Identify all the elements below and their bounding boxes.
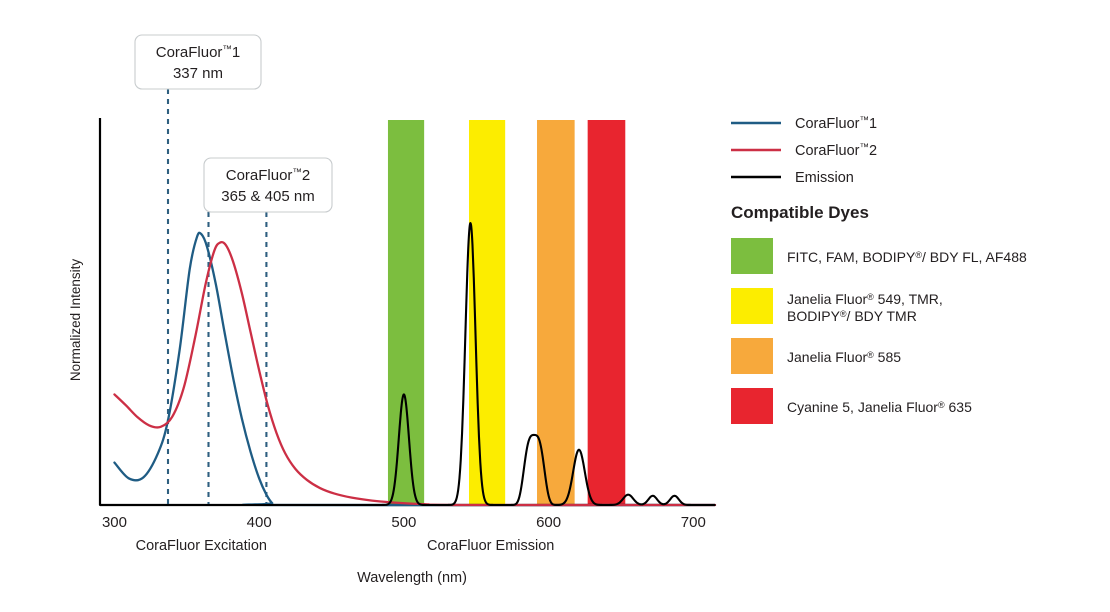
x-tick-labels: 300400500600700 [102, 514, 706, 531]
legend-item: CoraFluor™2 [731, 142, 877, 160]
x-tick-label: 600 [536, 514, 561, 531]
legend-item-label: CoraFluor™2 [795, 142, 877, 160]
callout-line: 337 nm [173, 65, 223, 82]
callout-line: 365 & 405 nm [221, 188, 314, 205]
region-label: CoraFluor Emission [427, 538, 554, 554]
dye-entry: Cyanine 5, Janelia Fluor® 635 [731, 388, 972, 424]
spectra-chart: 300400500600700 CoraFluor ExcitationCora… [0, 0, 1110, 612]
dye-label: Janelia Fluor® 585 [787, 349, 901, 365]
x-axis-title: Wavelength (nm) [357, 570, 467, 586]
callouts-group: CoraFluor™1337 nmCoraFluor™2365 & 405 nm [135, 35, 332, 212]
y-axis-title: Normalized Intensity [68, 259, 83, 382]
green-band [388, 120, 424, 505]
x-tick-label: 500 [391, 514, 416, 531]
x-tick-label: 400 [247, 514, 272, 531]
corafluor2-callout: CoraFluor™2365 & 405 nm [204, 158, 332, 212]
x-tick-label: 300 [102, 514, 127, 531]
dye-label: FITC, FAM, BODIPY®/ BDY FL, AF488 [787, 249, 1027, 265]
dye-label: Cyanine 5, Janelia Fluor® 635 [787, 399, 972, 415]
dye-entry: Janelia Fluor® 585 [731, 338, 901, 374]
compatible-dyes-panel: Compatible Dyes FITC, FAM, BODIPY®/ BDY … [731, 203, 1027, 424]
region-labels: CoraFluor ExcitationCoraFluor Emission [136, 538, 555, 554]
x-tick-label: 700 [681, 514, 706, 531]
legend-item-label: CoraFluor™1 [795, 115, 877, 133]
dye-color-swatch [731, 238, 773, 274]
dye-color-swatch [731, 288, 773, 324]
legend: CoraFluor™1CoraFluor™2Emission [731, 115, 877, 187]
legend-item-label: Emission [795, 170, 854, 186]
orange-band [537, 120, 575, 505]
dye-label: Janelia Fluor® 549, TMR, [787, 291, 943, 307]
region-label: CoraFluor Excitation [136, 538, 267, 554]
corafluor1-callout: CoraFluor™1337 nm [135, 35, 261, 89]
dye-color-swatch [731, 338, 773, 374]
plot-bands [388, 120, 625, 505]
dye-color-swatch [731, 388, 773, 424]
legend-item: Emission [731, 170, 854, 186]
compatible-dyes-heading: Compatible Dyes [731, 203, 869, 222]
dye-entry: FITC, FAM, BODIPY®/ BDY FL, AF488 [731, 238, 1027, 274]
legend-item: CoraFluor™1 [731, 115, 877, 133]
dye-label: BODIPY®/ BDY TMR [787, 308, 917, 324]
dye-entry: Janelia Fluor® 549, TMR,BODIPY®/ BDY TMR [731, 288, 943, 324]
red-band [588, 120, 626, 505]
